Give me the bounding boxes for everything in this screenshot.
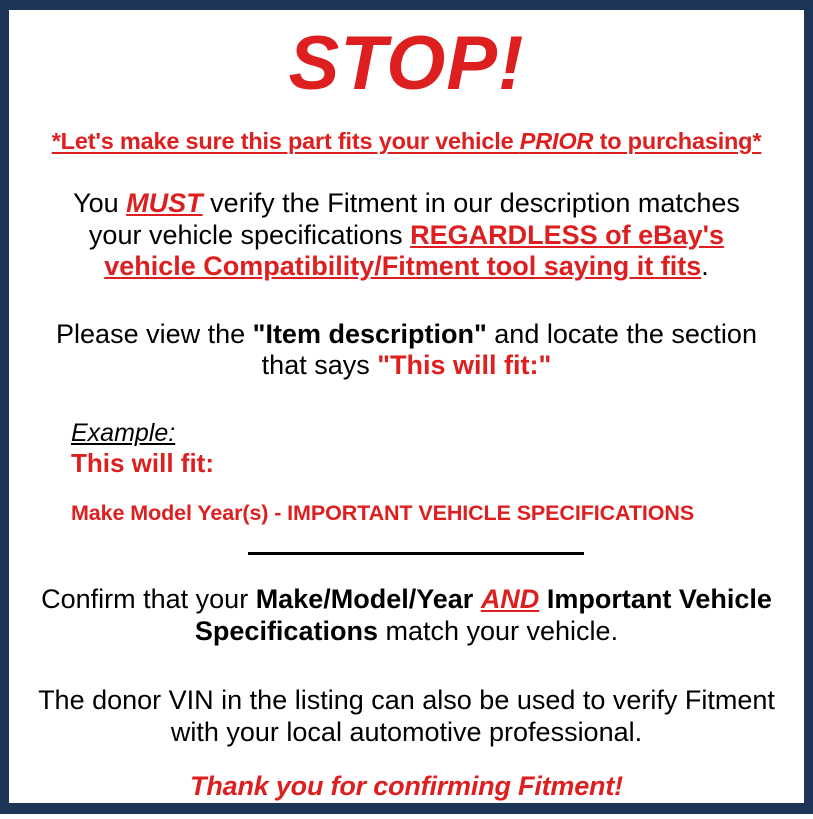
item-description-label: "Item description"	[253, 319, 487, 349]
divider-line	[248, 552, 584, 555]
this-will-fit-quote: "This will fit:"	[377, 350, 551, 380]
example-this-will-fit-heading: This will fit:	[71, 449, 790, 479]
make-model-year-label: Make/Model/Year	[256, 584, 474, 614]
notice-content: STOP! *Let's make sure this part fits yo…	[9, 26, 804, 819]
stop-title: STOP!	[23, 26, 790, 102]
fitment-notice-card: STOP! *Let's make sure this part fits yo…	[0, 0, 813, 814]
confirm-seg1: Confirm that your	[41, 584, 256, 614]
donor-vin-paragraph: The donor VIN in the listing can also be…	[29, 685, 784, 748]
confirm-seg2: match your vehicle.	[378, 616, 618, 646]
thank-you-message: Thank you for confirming Fitment!	[23, 771, 790, 802]
tagline: *Let's make sure this part fits your veh…	[23, 128, 790, 155]
confirm-paragraph: Confirm that your Make/Model/Year AND Im…	[35, 584, 778, 647]
view-paragraph-seg1: Please view the	[56, 319, 253, 349]
tagline-after: to purchasing*	[593, 128, 761, 154]
example-block: Example: This will fit: Make Model Year(…	[23, 420, 790, 526]
tagline-before: *Let's make sure this part fits your veh…	[52, 128, 520, 154]
tagline-emphasis: PRIOR	[520, 128, 593, 154]
must-paragraph-seg1: You	[73, 188, 126, 218]
item-description-paragraph: Please view the "Item description" and l…	[39, 319, 774, 382]
must-keyword: MUST	[126, 188, 203, 218]
example-label: Example:	[71, 420, 790, 448]
example-specification-line: Make Model Year(s) - IMPORTANT VEHICLE S…	[71, 501, 790, 526]
divider	[23, 552, 790, 562]
and-keyword: AND	[481, 584, 540, 614]
must-paragraph-seg3: .	[701, 251, 709, 281]
verify-fitment-paragraph: You MUST verify the Fitment in our descr…	[53, 188, 760, 283]
